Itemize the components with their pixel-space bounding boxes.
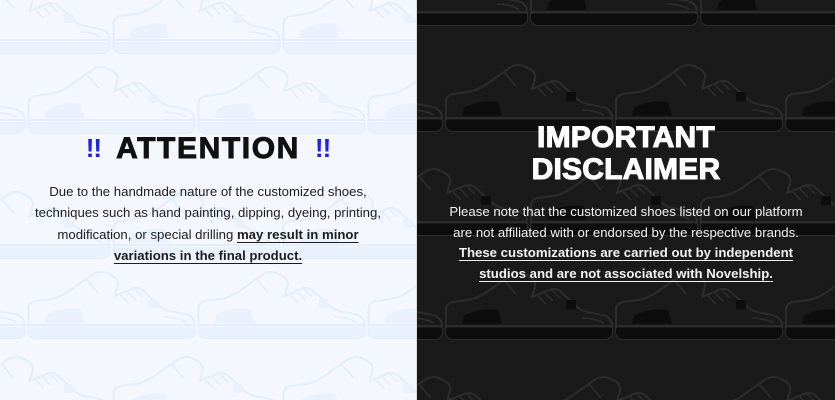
attention-content: !! ATTENTION !! Due to the handmade natu… [0,134,416,267]
disclaimer-body-text: Please note that the customized shoes li… [443,202,809,284]
disclaimer-content: IMPORTANT DISCLAIMER Please note that th… [417,122,835,285]
attention-body-text: Due to the handmade nature of the custom… [31,181,385,267]
attention-panel: !! ATTENTION !! Due to the handmade natu… [0,0,417,400]
disclaimer-heading: IMPORTANT DISCLAIMER [443,122,809,186]
attention-heading-text: ATTENTION [116,134,300,164]
disclaimer-heading-line-1: IMPORTANT [443,122,809,154]
customization-notice-banner: !! ATTENTION !! Due to the handmade natu… [0,0,835,400]
disclaimer-panel: IMPORTANT DISCLAIMER Please note that th… [417,0,835,400]
disclaimer-heading-line-2: DISCLAIMER [443,154,809,186]
disclaimer-body-normal: Please note that the customized shoes li… [449,204,802,240]
disclaimer-body-emphasis: These customizations are carried out by … [459,245,793,281]
double-exclamation-right-icon: !! [315,135,330,161]
double-exclamation-left-icon: !! [86,135,101,161]
attention-heading: !! ATTENTION !! [31,134,385,164]
